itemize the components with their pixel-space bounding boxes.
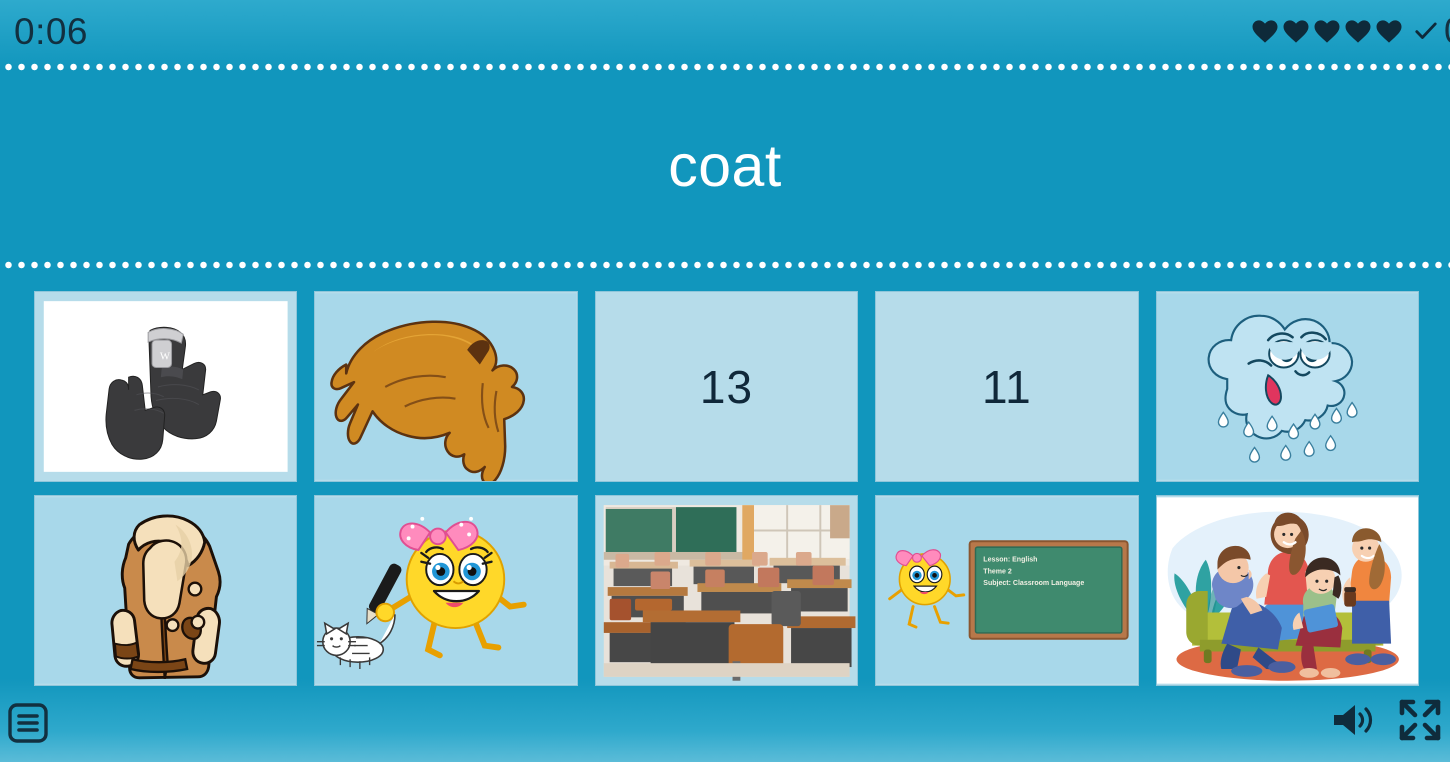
answer-tile-blackboard[interactable]: Lesson: English Theme 2 Subject: Classro… — [875, 495, 1138, 686]
answer-tile-drawing[interactable] — [314, 495, 577, 686]
answer-tile-13[interactable]: 13 — [595, 291, 858, 482]
playback-controls — [1328, 694, 1446, 751]
page-title: coat — [668, 137, 782, 196]
smiley-drawing-image — [315, 495, 576, 686]
heart-icon — [1374, 16, 1404, 46]
status-indicators: 0 — [1250, 13, 1450, 49]
gloves-image: W — [35, 291, 296, 482]
answer-tile-raincloud[interactable] — [1156, 291, 1419, 482]
check-icon — [1413, 18, 1439, 44]
raincloud-image — [1157, 291, 1418, 482]
score-display: 0 — [1444, 13, 1450, 49]
answer-tile-11[interactable]: 11 — [875, 291, 1138, 482]
divider-top-dotted — [0, 63, 1450, 71]
svg-text:W: W — [160, 351, 171, 363]
divider-bottom-dotted — [0, 261, 1450, 269]
coat-image — [35, 495, 296, 686]
tile-number-label: 13 — [700, 360, 753, 414]
bottom-toolbar — [0, 686, 1450, 762]
blackboard-line-1: Lesson: English — [983, 557, 1037, 564]
prompt-area: coat — [0, 72, 1450, 260]
classroom-photo — [596, 495, 857, 686]
top-hud-bar: 0:06 0 — [0, 0, 1450, 62]
hamburger-menu-icon[interactable] — [8, 700, 48, 746]
fullscreen-expand-icon[interactable] — [1394, 694, 1446, 751]
heart-icon — [1250, 16, 1280, 46]
answer-tile-coat[interactable] — [34, 495, 297, 686]
tile-number-label: 11 — [982, 360, 1032, 414]
answer-tile-grid: W 13 11 — [34, 291, 1419, 686]
hair-image — [315, 291, 576, 482]
blackboard-image: Lesson: English Theme 2 Subject: Classro… — [876, 495, 1137, 686]
answer-tile-family[interactable] — [1156, 495, 1419, 686]
heart-icon — [1312, 16, 1342, 46]
family-sofa-image — [1157, 495, 1418, 686]
blackboard-line-2: Theme 2 — [983, 568, 1012, 575]
answer-tile-gloves[interactable]: W — [34, 291, 297, 482]
blackboard-line-3: Subject: Classroom Language — [983, 580, 1084, 587]
timer-display: 0:06 — [8, 13, 88, 50]
speaker-volume-icon[interactable] — [1328, 697, 1378, 748]
answer-tile-hair[interactable] — [314, 291, 577, 482]
heart-icon — [1343, 16, 1373, 46]
answer-tile-classroom[interactable] — [595, 495, 858, 686]
heart-icon — [1281, 16, 1311, 46]
